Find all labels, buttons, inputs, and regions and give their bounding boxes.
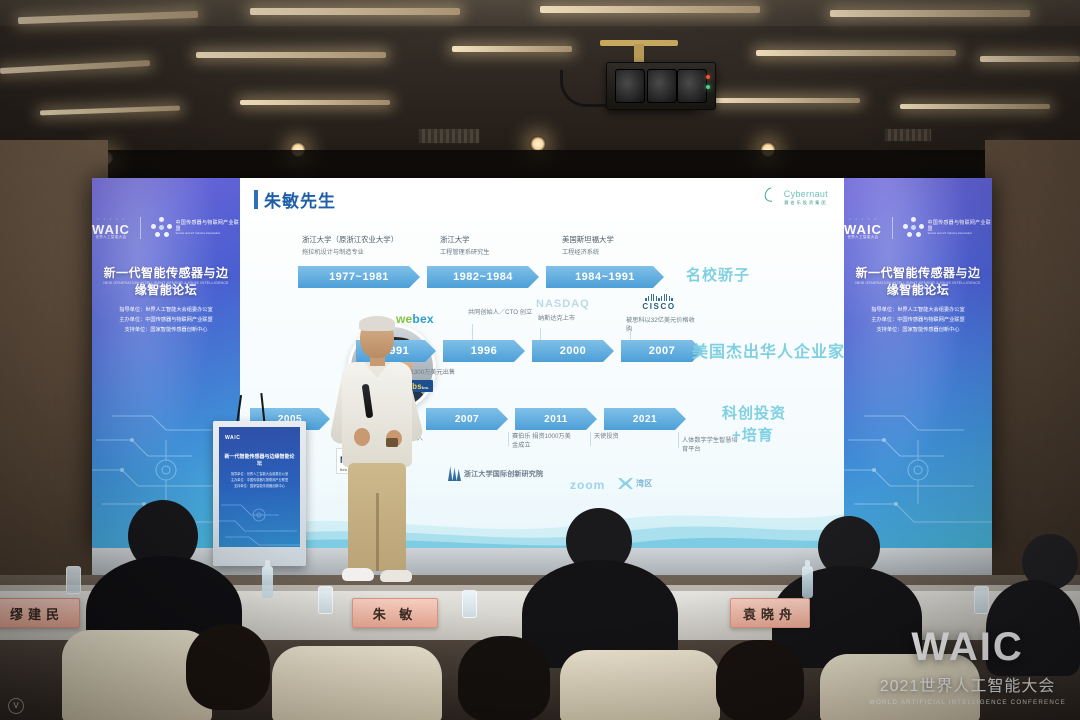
cybernaut-word-main: Cyber [784,189,810,199]
audience-head [186,624,270,710]
zju-mark-icon [448,466,461,481]
audience-head [458,636,550,720]
cybernaut-word-tail: naut [809,189,828,199]
edu-year-2: 1982~1984 [427,266,539,288]
logo-zoom: zoom [570,478,605,492]
career-2-desc: 共同创始人／CTO 创立 [468,309,532,316]
career-4-desc: 被思科以32亿美元价格收购 [626,317,695,333]
lectern: WAIC 新一代智能传感器与边缘智能论坛 指导单位：世界人工智能大会组委办公室 … [213,421,306,566]
water-bottle [802,566,813,598]
career-year-2: 1996 [443,340,525,362]
lectern-branding-panel: WAIC 新一代智能传感器与边缘智能论坛 指导单位：世界人工智能大会组委办公室 … [219,427,300,547]
waic-watermark-title-zh: 2021世界人工智能大会 [869,672,1066,696]
edu-2-title: 浙江大学 [440,235,470,244]
wanqu-mark-icon [618,478,633,489]
water-glass [66,566,81,594]
forum-title-en-right: NEW GENERATION INTELLIGENT SENSOR & EDGE… [850,281,986,289]
credit-line: 指导单位：世界人工智能大会组委办公室 [852,306,984,316]
forum-credits-left: 指导单位：世界人工智能大会组委办公室 主办单位：中国传感器与物联网产业联盟 支持… [100,306,232,336]
logo-cisco: CISCO [626,294,692,311]
credit-line: 支持单位：国家智能传感器创新中心 [100,326,232,336]
lectern-circuit-decoration [219,489,300,547]
slide-title: 朱敏先生 [264,187,336,212]
nameplate-center: 朱 敏 [352,598,438,628]
waic-logo-right: · · · · · WAIC 世界人工智能大会 [844,216,882,240]
futurelabs-c: Inc. [422,385,430,390]
wanqu-name: 湾区 [636,478,652,489]
edu-2-desc: 工程管理系研究生 [440,249,490,256]
timeline-row-investment: 2005 2006 2007 2011 2021 [250,408,693,430]
zju-institute-name: 浙江大学国际创新研究院 [464,469,543,479]
career-year-4: 2007 [621,340,703,362]
edu-1-desc: 拖拉机设计与制造专业 [302,249,364,256]
audience-head [716,640,804,720]
waic-watermark-title-en: WORLD ARTIFICIAL INTELLIGENCE CONFERENCE [869,699,1066,706]
waic-sub-right: 世界人工智能大会 [844,236,882,240]
alliance-name-en-right: Sensor and IoT Industry Association [927,232,992,235]
projector-mount-pole [634,44,644,64]
credit-line: 支持单位：国家智能传感器创新中心 [852,326,984,336]
nameplate-right: 袁晓舟 [730,598,810,628]
alliance-network-icon [903,217,924,239]
cybernaut-sub: 赛伯乐投资集团 [784,200,828,206]
right-label-2: 美国杰出华人企业家 [692,338,844,362]
career-3-desc: 纳斯达克上市 [538,315,575,322]
alliance-name-en-left: Sensor and IoT Industry Association [175,232,240,235]
slide-title-accent [254,190,258,209]
edu-3-desc: 工程经济系统 [562,249,599,256]
water-glass [318,586,333,614]
logo-zju-institute: 浙江大学国际创新研究院 [448,466,543,481]
edu-year-3: 1984~1991 [546,266,664,288]
screen-side-panel-right: · · · · · WAIC 世界人工智能大会 中国传感器与物联网产业联盟 Se… [844,178,992,550]
invest-3-desc: 赛伯乐 捐资1000万美金成立 [512,433,571,449]
credit-line: 指导单位：世界人工智能大会组委办公室 [100,306,232,316]
nameplate-left: 缪建民 [0,598,80,628]
cisco-wordmark: CISCO [642,302,675,311]
alliance-logo-right: 中国传感器与物联网产业联盟 Sensor and IoT Industry As… [903,217,992,239]
waic-dots-right: · · · · · [844,216,882,223]
edu-1-title: 浙江大学（原浙江农业大学） [302,235,398,244]
lectern-waic-logo: WAIC [225,435,240,441]
presentation-clicker [386,438,398,447]
waic-sub-left: 世界人工智能大会 [92,236,130,240]
cisco-bars-icon [626,294,692,301]
waic-logo-left: · · · · · WAIC 世界人工智能大会 [92,216,130,240]
logo-divider-left [140,217,141,239]
waic-dots-left: · · · · · [92,216,130,223]
lectern-forum-title: 新一代智能传感器与边缘智能论坛 [223,453,296,467]
corner-mark: V [8,698,24,714]
credit-line: 主办单位：中国传感器与物联网产业联盟 [852,316,984,326]
career-year-3: 2000 [532,340,614,362]
logo-divider-right [892,217,893,239]
right-label-3: 科创投资 [722,402,786,423]
chair-back [560,650,720,720]
right-label-4: +培育 [732,424,774,445]
water-bottle [262,566,273,598]
edu-year-1: 1977~1981 [298,266,420,288]
forum-title-en-left: NEW GENERATION INTELLIGENT SENSOR & EDGE… [98,281,234,289]
invest-4-desc: 天使投资 [594,433,619,440]
waic-watermark: WAIC 2021世界人工智能大会 WORLD ARTIFICIAL INTEL… [869,627,1066,706]
alliance-logo-left: 中国传感器与物联网产业联盟 Sensor and IoT Industry As… [151,217,240,239]
water-glass [974,586,989,614]
logo-wanqu: 湾区 [618,478,652,489]
cybernaut-swoosh-icon [762,185,781,205]
credit-line: 主办单位：中国传感器与物联网产业联盟 [100,316,232,326]
logo-nasdaq: NASDAQ [536,298,590,310]
presenter-on-stage [330,318,422,590]
ceiling-projector [606,62,716,110]
forum-credits-right: 指导单位：世界人工智能大会组委办公室 主办单位：中国传感器与物联网产业联盟 支持… [852,306,984,336]
alliance-network-icon [151,217,172,239]
lectern-credits: 指导单位：世界人工智能大会组委办公室 主办单位：中国传感器与物联网产业联盟 支持… [224,471,295,489]
invest-year-3: 2007 [426,408,508,430]
conference-photo: · · · · · WAIC 世界人工智能大会 中国传感器与物联网产业联盟 Se… [0,0,1080,720]
cybernaut-logo: Cybernaut 赛伯乐投资集团 [784,189,828,206]
chair-back [272,646,442,720]
invest-5-desc: 人体数字学生智慧培育平台 [682,437,738,453]
slide-header: 朱敏先生 Cybernaut 赛伯乐投资集团 [240,178,844,220]
timeline-row-education: 1977~1981 1982~1984 1984~1991 [298,266,671,288]
right-label-1: 名校骄子 [686,264,750,285]
invest-year-4: 2011 [515,408,597,430]
water-glass [462,590,477,618]
invest-year-5: 2021 [604,408,686,430]
edu-3-title: 美国斯坦福大学 [562,235,614,244]
waic-watermark-logo: WAIC [869,627,1066,667]
